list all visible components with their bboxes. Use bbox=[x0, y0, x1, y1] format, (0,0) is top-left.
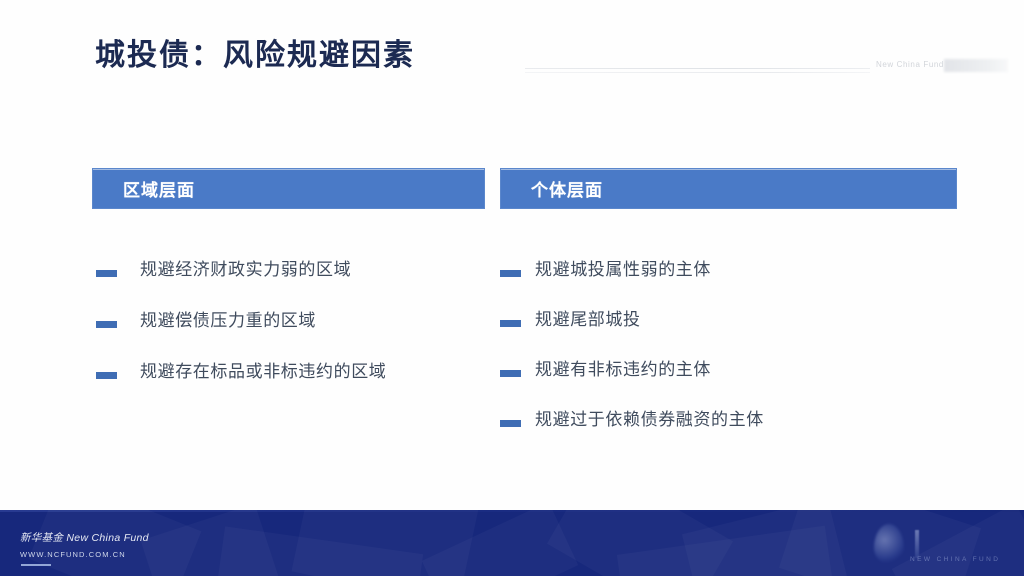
footer-accent-rule bbox=[21, 564, 51, 566]
header-divider-line-secondary bbox=[525, 72, 870, 73]
bullet-list-individual: 规避城投属性弱的主体 规避尾部城投 规避有非标违约的主体 规避过于依赖债券融资的… bbox=[500, 262, 957, 429]
list-item: 规避尾部城投 bbox=[500, 312, 957, 329]
list-item-label: 规避有非标违约的主体 bbox=[521, 362, 711, 379]
list-item: 规避偿债压力重的区域 bbox=[92, 313, 485, 330]
list-item-label: 规避尾部城投 bbox=[521, 312, 641, 329]
bullet-dash-icon bbox=[500, 370, 521, 377]
list-item: 规避存在标品或非标违约的区域 bbox=[92, 364, 485, 381]
footer-watermark-logo: NEW CHINA FUND bbox=[852, 518, 1002, 570]
bullet-dash-icon bbox=[500, 420, 521, 427]
slide-footer: 新华基金 New China Fund WWW.NCFUND.COM.CN NE… bbox=[0, 510, 1024, 576]
list-item: 规避经济财政实力弱的区域 bbox=[92, 262, 485, 279]
column-header-label: 区域层面 bbox=[123, 176, 195, 201]
list-item-label: 规避经济财政实力弱的区域 bbox=[117, 262, 351, 279]
list-item-label: 规避过于依赖债券融资的主体 bbox=[521, 412, 764, 429]
header-brand-text: New China Fund bbox=[876, 60, 944, 69]
footer-logo-text: NEW CHINA FUND bbox=[910, 556, 1000, 563]
bullet-dash-icon bbox=[500, 320, 521, 327]
list-item-label: 规避偿债压力重的区域 bbox=[117, 313, 316, 330]
list-item-label: 规避城投属性弱的主体 bbox=[521, 262, 711, 279]
column-header-individual: 个体层面 bbox=[500, 168, 957, 209]
column-header-label: 个体层面 bbox=[531, 176, 603, 201]
list-item: 规避有非标违约的主体 bbox=[500, 362, 957, 379]
page-title: 城投债：风险规避因素 bbox=[95, 30, 415, 74]
column-regional: 区域层面 规避经济财政实力弱的区域 规避偿债压力重的区域 规避存在标品或非标违约… bbox=[92, 168, 485, 415]
logo-mark-icon bbox=[915, 530, 919, 558]
footer-brand-name: 新华基金 New China Fund bbox=[20, 530, 149, 545]
header-brand-logo-placeholder bbox=[944, 59, 1008, 72]
list-item-label: 规避存在标品或非标违约的区域 bbox=[117, 364, 386, 381]
list-item: 规避过于依赖债券融资的主体 bbox=[500, 412, 957, 429]
header-divider-line bbox=[525, 68, 870, 69]
column-header-regional: 区域层面 bbox=[92, 168, 485, 209]
bullet-dash-icon bbox=[96, 321, 117, 328]
footer-website-url[interactable]: WWW.NCFUND.COM.CN bbox=[20, 550, 126, 559]
presentation-slide: 城投债：风险规避因素 New China Fund 区域层面 规避经济财政实力弱… bbox=[0, 0, 1024, 576]
crescent-moon-icon bbox=[874, 524, 904, 564]
bullet-dash-icon bbox=[96, 270, 117, 277]
bullet-list-regional: 规避经济财政实力弱的区域 规避偿债压力重的区域 规避存在标品或非标违约的区域 bbox=[92, 262, 485, 381]
list-item: 规避城投属性弱的主体 bbox=[500, 262, 957, 279]
bullet-dash-icon bbox=[500, 270, 521, 277]
bullet-dash-icon bbox=[96, 372, 117, 379]
column-individual: 个体层面 规避城投属性弱的主体 规避尾部城投 规避有非标违约的主体 规避过于依赖… bbox=[500, 168, 957, 462]
